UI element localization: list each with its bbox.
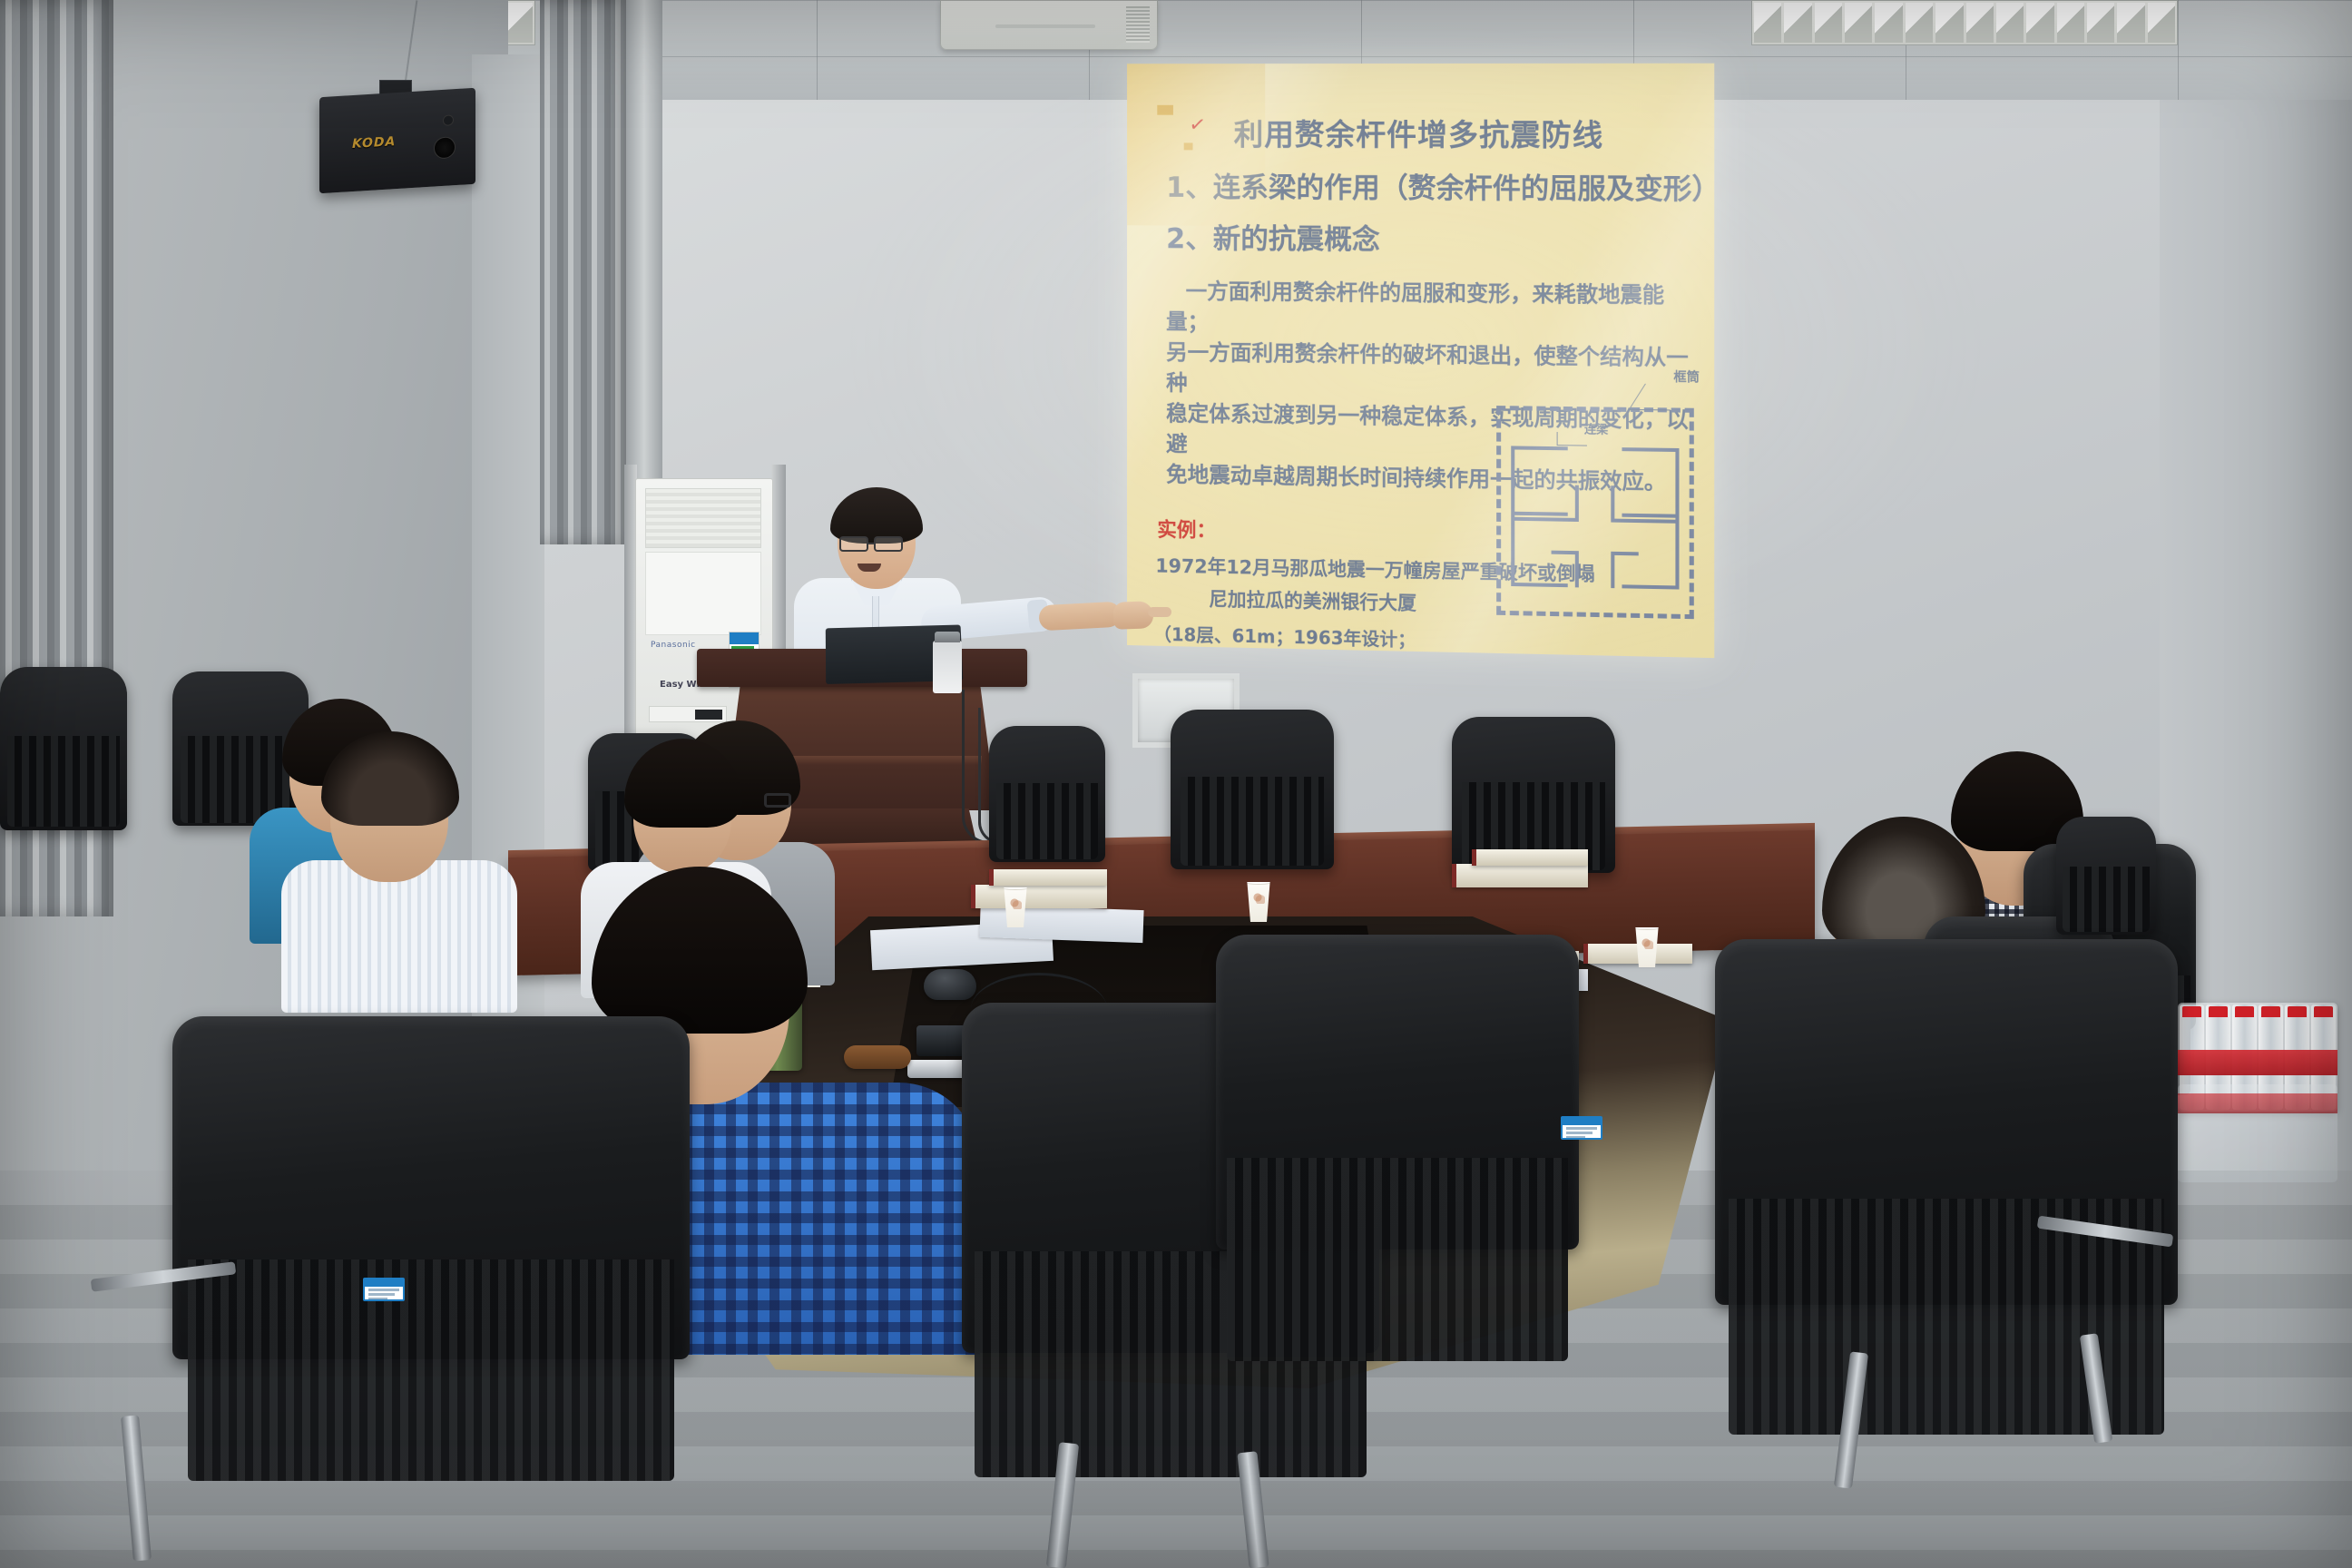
notebook-right[interactable]: [1452, 864, 1588, 887]
attendee-torso: [281, 860, 517, 1013]
slide-bullet-1: 1、连系梁的作用（赘余杆件的屈服及变形）: [1166, 164, 1692, 207]
conference-room-scene: KODA Panasonic Easy Wind ✓ 利用赘余杆件增多抗震防线 …: [0, 0, 2352, 1568]
speaker-woofer-icon: [434, 136, 456, 159]
slide-bullet-2: 2、新的抗震概念: [1166, 216, 1692, 260]
speaker-brand-label: KODA: [352, 134, 396, 152]
speaker-enclosure: KODA: [319, 88, 475, 194]
asset-tag-sticker: [363, 1278, 405, 1301]
eyeglasses-icon: [839, 536, 868, 552]
slide-decor-square-small: [1184, 142, 1193, 150]
chair-center-rear[interactable]: [1216, 935, 1579, 1443]
papers-stack[interactable]: [979, 905, 1143, 943]
slide-paragraph-line: 一方面利用赘余杆件的屈服和变形，来耗散地震能量；: [1166, 276, 1692, 342]
book-open-center[interactable]: [989, 869, 1107, 886]
book-stack-center[interactable]: [971, 885, 1107, 908]
chair-skirt: [188, 1259, 674, 1481]
empty-chair-left-row-3[interactable]: [0, 667, 127, 830]
slide-decor-square: [1157, 105, 1173, 115]
bottle-cap: [935, 632, 960, 642]
attendee-white-stripe: [281, 726, 517, 998]
attendee-hair: [592, 867, 808, 1034]
notebook-right-2[interactable]: [1472, 849, 1588, 866]
attendee-hair: [321, 731, 459, 826]
eyeglasses-bridge: [868, 543, 875, 544]
chair-skirt: [1227, 1158, 1568, 1361]
water-bottle[interactable]: [933, 641, 962, 693]
diagram-label-inner: 连梁: [1584, 419, 1608, 436]
presenter-hand: [1112, 601, 1153, 630]
empty-chair-back-center[interactable]: [1171, 710, 1334, 869]
chair-right-small[interactable]: [2056, 817, 2156, 935]
speaker-tweeter-icon: [443, 114, 454, 126]
projected-slide: ✓ 利用赘余杆件增多抗震防线 1、连系梁的作用（赘余杆件的屈服及变形） 2、新的…: [1127, 64, 1714, 658]
ac-brand-label: Panasonic: [651, 641, 696, 650]
foreground-chair-left[interactable]: [172, 1016, 690, 1568]
window-curtain-inner: [540, 0, 626, 544]
eyeglasses-icon: [874, 536, 903, 552]
bottled-water-case-lower: [2178, 1084, 2337, 1182]
ac-front-panel: [645, 552, 761, 635]
diagram-core-seg: [1611, 552, 1638, 589]
slide-paragraph-line: 另一方面利用赘余杆件的破坏和退出，使整个结构从一种: [1166, 337, 1692, 405]
attendee-hair: [624, 739, 742, 828]
diagram-core-seg: [1552, 551, 1579, 588]
checkmark-icon: ✓: [1188, 113, 1207, 138]
diagram-label-outer: 框筒: [1673, 367, 1700, 387]
wall-pillar: [626, 0, 662, 508]
slide-structural-diagram: 框筒 连梁: [1496, 406, 1694, 619]
ac-air-vent: [645, 488, 761, 548]
ceiling-ac-vent: [940, 0, 1158, 50]
wall-speaker: KODA: [319, 80, 475, 196]
asset-tag-sticker: [1561, 1116, 1602, 1140]
slide-title: 利用赘余杆件增多抗震防线: [1234, 111, 1692, 155]
ceiling-light-right: [1751, 0, 2178, 45]
water-case-wrap-label: [2178, 1093, 2337, 1113]
water-case-wrap-label: [2178, 1050, 2337, 1075]
empty-chair-back-left[interactable]: [989, 726, 1105, 862]
presenter-pointing-finger: [1148, 607, 1171, 617]
presenter-hair: [830, 487, 923, 544]
presenter-forearm: [1038, 602, 1121, 632]
